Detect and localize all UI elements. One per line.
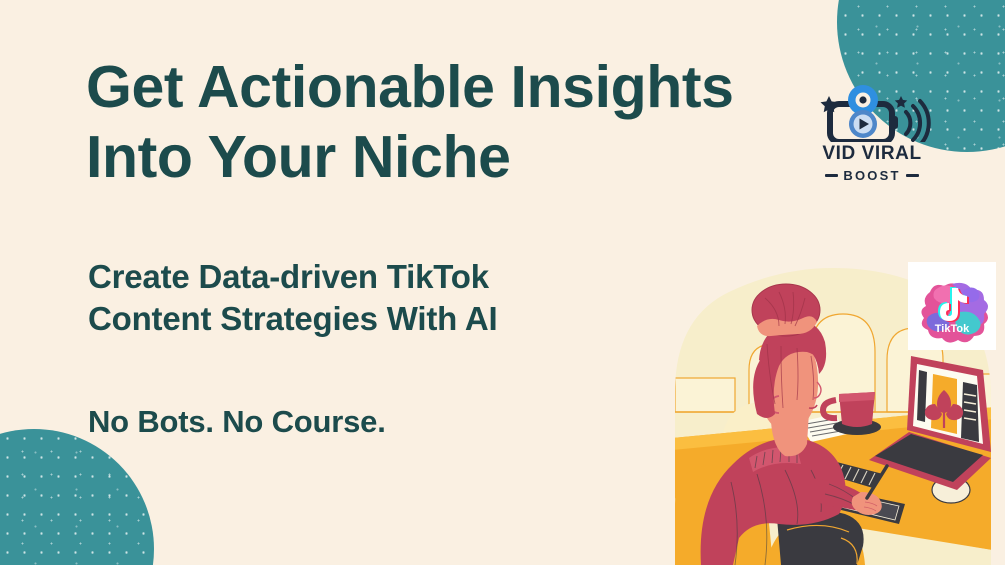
brand-logo: VID VIRAL BOOST [808,80,936,183]
decorative-circle-bottom-left [0,429,154,565]
subheadline: Create Data-driven TikTok Content Strate… [88,256,497,340]
brand-dash-right [906,174,919,177]
page-title: Get Actionable Insights Into Your Niche [86,52,786,192]
brand-dash-left [825,174,838,177]
video-camera-broadcast-icon [813,80,931,142]
tiktok-badge-label: TikTok [935,323,970,335]
brand-subtitle-row: BOOST [808,168,936,183]
tiktok-watercolor-logo: TikTok [908,262,996,350]
tagline: No Bots. No Course. [88,404,386,440]
brand-name: VID VIRAL [808,143,936,165]
brand-subtitle: BOOST [843,168,900,183]
text-block: Get Actionable Insights Into Your Niche … [86,52,786,192]
promo-slide: Get Actionable Insights Into Your Niche … [0,0,1005,565]
